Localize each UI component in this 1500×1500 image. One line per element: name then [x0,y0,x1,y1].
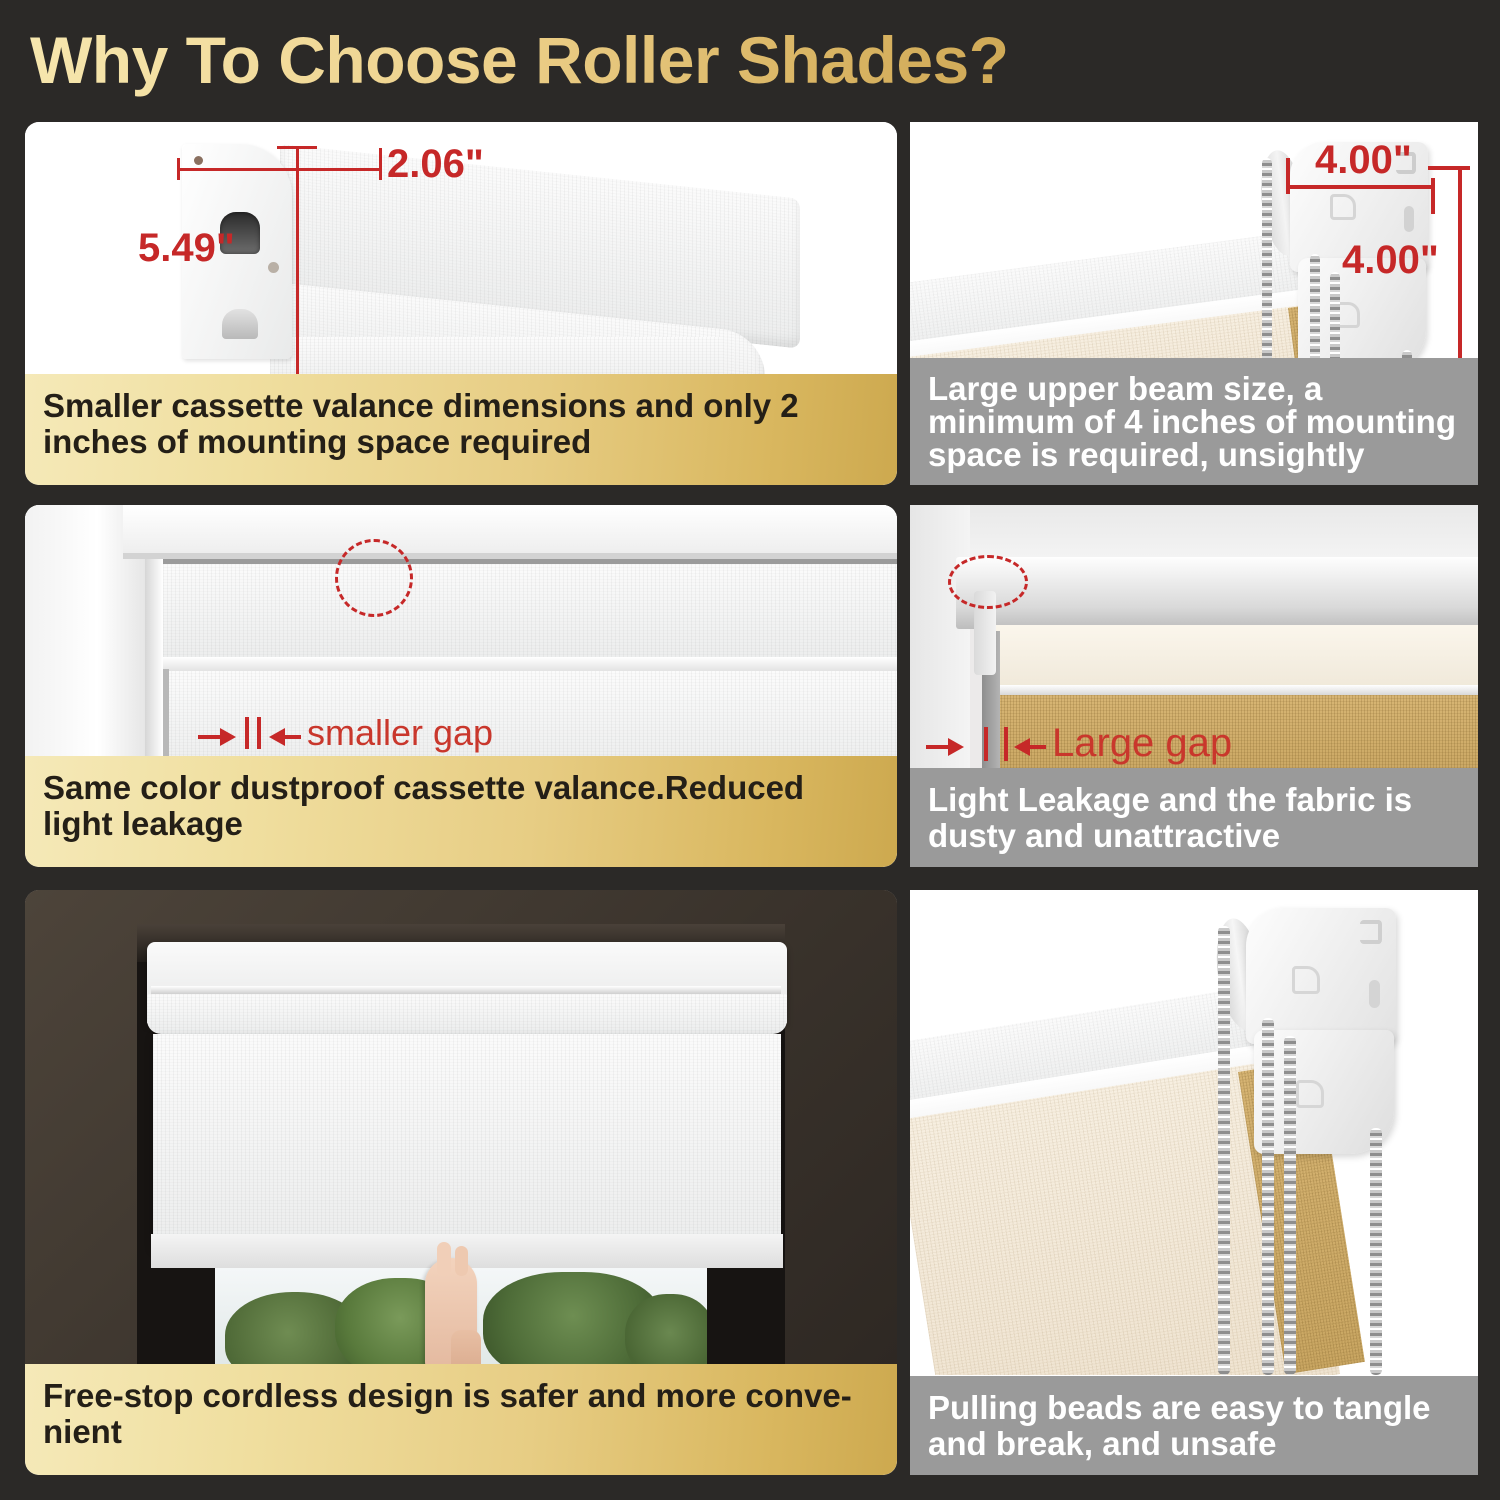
caption-line: Smaller cassette valance dimensions and … [43,388,879,423]
bead-chain [1262,1018,1274,1375]
caption-line: inches of mounting space required [43,424,879,459]
infographic-poster: Why To Choose Roller Shades? 2.06" [0,0,1500,1500]
bracket-hook-icon [1360,920,1382,944]
gap-tick-left [984,727,988,761]
bracket-slot-icon [1404,206,1414,232]
gap-callout-label: Large gap [1052,721,1232,766]
gap-arrow-stem-right [285,735,301,739]
height-dimension-line [1458,166,1462,372]
gap-tick-left [245,717,249,749]
caption-bottom-right: Pulling beads are easy to tangle and bre… [910,1376,1478,1475]
shade-fabric-panel [153,1034,781,1246]
wall-background [910,505,1478,557]
caption-mid-left: Same color dustproof cassette valance.Re… [25,756,897,867]
tree-far-right [625,1294,707,1375]
bracket-arrow-icon [1292,966,1320,994]
gap-arrow-left-icon [1014,738,1030,756]
valance-top-edge [163,559,897,564]
cream-fabric-strip [996,625,1478,687]
width-dimension-tick-right [1431,178,1435,214]
bracket-arrow-2-icon [1296,1080,1324,1108]
panel-bottom-left: Free-stop cordless design is safer and m… [25,890,897,1475]
finger [437,1242,451,1276]
gap-callout-label: smaller gap [307,712,493,754]
gap-arrow-right-icon [220,728,236,746]
gap-arrow-stem-left [926,745,948,749]
caption-line: and break, and unsafe [928,1426,1460,1461]
gap-tick-right [1004,727,1008,761]
gap-arrow-stem-left [198,735,220,739]
bracket-slot-icon [1369,980,1380,1008]
height-dimension-label: 4.00" [1342,238,1439,283]
caption-top-right: Large upper beam size, a minimum of 4 in… [910,358,1478,485]
valance-bottom-lip [163,657,897,671]
caption-line: Free-stop cordless design is safer and m… [43,1378,879,1413]
product-photo-cordless-window [25,890,897,1375]
valance-highlight-circle [335,539,413,617]
caption-top-left: Smaller cassette valance dimensions and … [25,374,897,485]
bead-chain [1284,1036,1296,1375]
caption-bottom-left: Free-stop cordless design is safer and m… [25,1364,897,1475]
height-dimension-line [296,146,299,385]
page-title: Why To Choose Roller Shades? [30,22,1130,98]
width-dimension-line [1287,185,1435,189]
width-dimension-label: 4.00" [1315,138,1412,183]
product-photo-dustproof-valance: smaller gap [25,505,897,773]
panel-mid-right: Large gap Light Leakage and the fabric i… [910,505,1478,867]
window-frame-head [123,505,897,559]
bracket-screw-2-icon [268,262,279,273]
gap-tick-right [257,717,261,749]
width-dimension-tick-right [379,148,382,180]
product-photo-light-leakage: Large gap [910,505,1478,783]
caption-line: dusty and unattractive [928,818,1460,853]
width-dimension-label: 2.06" [387,142,484,187]
cassette-valance-band [163,563,897,661]
product-photo-cassette-valance: 2.06" 5.49" [25,122,897,385]
bracket-arrow-icon [1330,194,1356,220]
panel-bottom-right: Pulling beads are easy to tangle and bre… [910,890,1478,1475]
bracket-clip-icon [222,309,258,339]
gap-highlight-ellipse [948,555,1028,609]
gap-arrow-left-icon [269,728,285,746]
product-photo-bead-chain [910,890,1478,1375]
headrail-groove [151,986,781,994]
height-dimension-tick-top [1428,166,1470,170]
panel-mid-left: smaller gap Same color dustproof cassett… [25,505,897,867]
height-dimension-label: 5.49" [138,226,235,271]
caption-line: Same color dustproof cassette valance.Re… [43,770,879,805]
headrail-lower-roll [147,994,787,1034]
panel-top-right: 4.00" 4.00" Large upper beam size, a min… [910,122,1478,485]
width-dimension-tick-left [1286,158,1290,194]
caption-line: Pulling beads are easy to tangle [928,1390,1460,1425]
bracket-screw-icon [194,156,203,165]
bead-chain [1370,1128,1382,1375]
caption-line: nient [43,1414,879,1449]
caption-line: Light Leakage and the fabric is [928,782,1460,817]
caption-line: space is required, unsightly [928,438,1460,471]
bead-chain [1218,926,1230,1375]
width-dimension-tick-left [177,158,180,180]
height-dimension-tick-top [277,146,317,149]
upper-header-rail [956,557,1478,629]
finger [455,1246,468,1276]
width-dimension-line [177,168,382,171]
caption-line: Large upper beam size, a [928,372,1460,405]
gap-arrow-right-icon [948,738,964,756]
caption-line: minimum of 4 inches of mounting [928,405,1460,438]
gap-arrow-stem-right [1030,745,1046,749]
caption-line: light leakage [43,806,879,841]
bead-chain [1262,158,1272,392]
product-photo-large-beam: 4.00" 4.00" [910,122,1478,392]
panel-top-left: 2.06" 5.49" Smaller cassette valance dim… [25,122,897,485]
rail-bottom-lip [996,685,1478,695]
caption-mid-right: Light Leakage and the fabric is dusty an… [910,768,1478,867]
